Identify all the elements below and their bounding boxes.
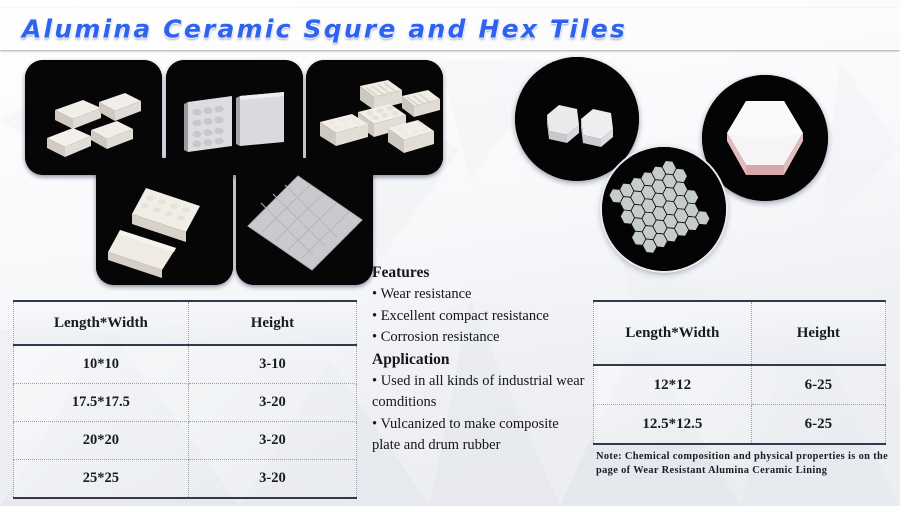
table-row: 25*25 3-20 — [14, 460, 357, 499]
cell-length-width: 17.5*17.5 — [14, 384, 189, 422]
photo-circle-single-hex-tile — [702, 75, 828, 201]
square-tile-mat-image — [236, 158, 373, 285]
column-header-height: Height — [751, 301, 885, 365]
cell-length-width: 25*25 — [14, 460, 189, 499]
table-row: 17.5*17.5 3-20 — [14, 384, 357, 422]
cell-length-width: 20*20 — [14, 422, 189, 460]
cell-length-width: 12*12 — [594, 365, 752, 405]
photo-circle-two-hex-tiles — [515, 57, 639, 181]
table-header-row: Length*Width Height — [14, 301, 357, 345]
title-banner: Alumina Ceramic Squre and Hex Tiles — [0, 8, 900, 50]
features-application-block: Features • Wear resistance • Excellent c… — [372, 262, 590, 457]
table-header-row: Length*Width Height — [594, 301, 886, 365]
table-row: 12*12 6-25 — [594, 365, 886, 405]
hex-tile-spec-table: Length*Width Height 12*12 6-25 12.5*12.5… — [593, 300, 886, 445]
table-row: 20*20 3-20 — [14, 422, 357, 460]
feature-item-2: • Excellent compact resistance — [372, 306, 590, 328]
cell-length-width: 12.5*12.5 — [594, 405, 752, 445]
features-heading: Features — [372, 262, 590, 283]
photo-circle-hex-mosaic-mat — [602, 147, 726, 271]
spec-note: Note: Chemical composition and physical … — [596, 450, 892, 478]
rectangular-bars-image — [96, 158, 233, 285]
application-item-1: • Used in all kinds of industrial wear c… — [372, 371, 590, 414]
square-tile-spec-table: Length*Width Height 10*10 3-10 17.5*17.5… — [13, 300, 357, 499]
column-header-height: Height — [188, 301, 356, 345]
cell-height: 3-20 — [188, 422, 356, 460]
table-row: 10*10 3-10 — [14, 345, 357, 384]
cell-height: 6-25 — [751, 405, 885, 445]
cell-height: 3-20 — [188, 460, 356, 499]
hex-mosaic-mat-image — [602, 147, 726, 271]
feature-item-1: • Wear resistance — [372, 284, 590, 306]
cell-height: 3-10 — [188, 345, 356, 384]
cell-height: 6-25 — [751, 365, 885, 405]
column-header-length-width: Length*Width — [14, 301, 189, 345]
column-header-length-width: Length*Width — [594, 301, 752, 365]
application-item-2: • Vulcanized to make composite plate and… — [372, 414, 590, 457]
photo-panel-rectangular-bars — [96, 158, 233, 285]
page-title: Alumina Ceramic Squre and Hex Tiles — [22, 15, 627, 44]
photo-panel-square-tile-mat — [236, 158, 373, 285]
product-banner-image: Alumina Ceramic Squre and Hex Tiles — [0, 0, 900, 506]
application-heading: Application — [372, 349, 590, 370]
two-hex-tiles-image — [515, 57, 639, 181]
cell-height: 3-20 — [188, 384, 356, 422]
feature-item-3: • Corrosion resistance — [372, 327, 590, 349]
cell-length-width: 10*10 — [14, 345, 189, 384]
single-hex-tile-image — [702, 75, 828, 201]
table-row: 12.5*12.5 6-25 — [594, 405, 886, 445]
